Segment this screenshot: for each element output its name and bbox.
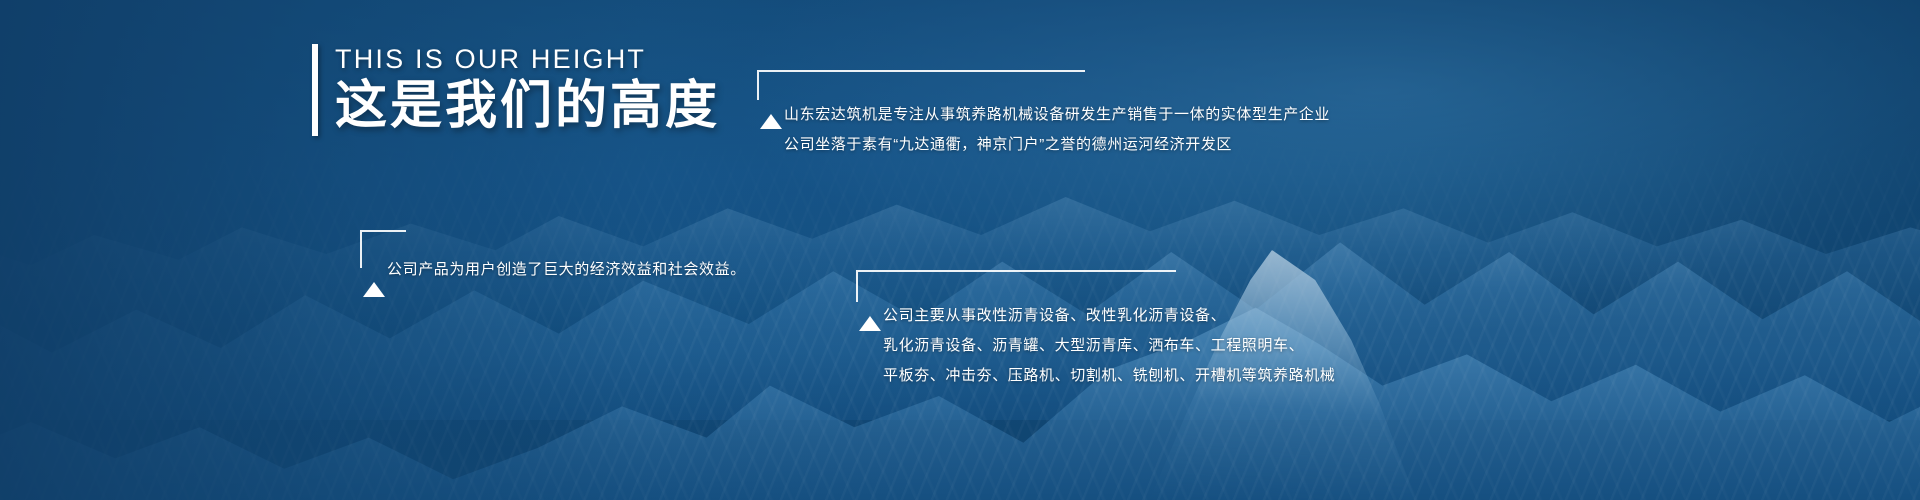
callout-triangle-marker xyxy=(859,316,881,331)
page-title: THIS IS OUR HEIGHT 这是我们的高度 xyxy=(312,44,720,136)
callout-line: 乳化沥青设备、沥青罐、大型沥青库、洒布车、工程照明车、 xyxy=(883,331,1335,361)
headline-chinese: 这是我们的高度 xyxy=(335,76,720,136)
callout-line: 公司坐落于素有“九达通衢，神京门户”之誉的德州运河经济开发区 xyxy=(784,130,1330,160)
callout-triangle-marker xyxy=(363,282,385,297)
callout-line: 平板夯、冲击夯、压路机、切割机、铣刨机、开槽机等筑养路机械 xyxy=(883,361,1335,391)
headline-english: THIS IS OUR HEIGHT xyxy=(335,44,720,74)
callout-triangle-marker xyxy=(760,114,782,129)
title-accent-bar xyxy=(312,44,318,136)
callout-text-group: 山东宏达筑机是专注从事筑养路机械设备研发生产销售于一体的实体型生产企业 公司坐落… xyxy=(784,100,1330,160)
title-text-group: THIS IS OUR HEIGHT 这是我们的高度 xyxy=(335,44,720,136)
callout-line: 公司主要从事改性沥青设备、改性乳化沥青设备、 xyxy=(883,301,1335,331)
callout-text-group: 公司产品为用户创造了巨大的经济效益和社会效益。 xyxy=(387,255,746,285)
hero-banner: THIS IS OUR HEIGHT 这是我们的高度 山东宏达筑机是专注从事筑养… xyxy=(0,0,1920,500)
callout-line: 山东宏达筑机是专注从事筑养路机械设备研发生产销售于一体的实体型生产企业 xyxy=(784,100,1330,130)
callout-text-group: 公司主要从事改性沥青设备、改性乳化沥青设备、 乳化沥青设备、沥青罐、大型沥青库、… xyxy=(883,301,1335,391)
callout-line: 公司产品为用户创造了巨大的经济效益和社会效益。 xyxy=(387,255,746,285)
